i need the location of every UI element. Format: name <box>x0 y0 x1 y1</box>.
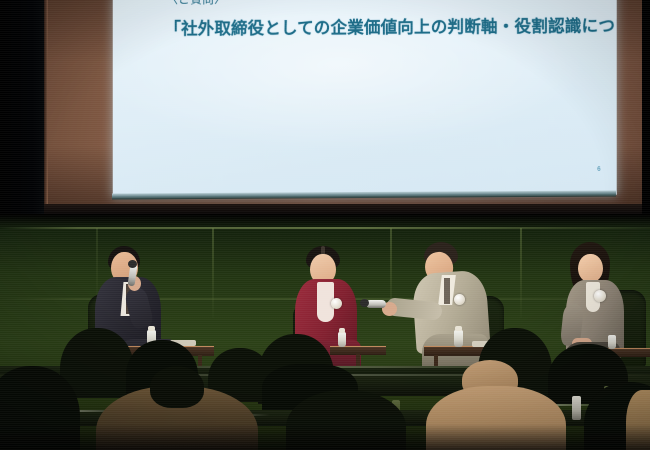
dark-wall-left <box>0 0 46 222</box>
foreground-shadow-band <box>0 424 650 450</box>
slide-title: 「社外取締役としての企業価値向上の判断軸・役割認識について」 <box>164 12 616 39</box>
water-bottle-3-cap <box>455 326 462 331</box>
panelist-2-badge <box>331 298 342 309</box>
panelist-4-head <box>578 254 603 282</box>
panelist-1-microphone-head <box>128 260 137 268</box>
conference-photograph: 〈ご質問〉 「社外取締役としての企業価値向上の判断軸・役割認識について」 6 <box>0 0 650 450</box>
projected-slide: 〈ご質問〉 「社外取締役としての企業価値向上の判断軸・役割認識について」 6 <box>113 0 617 197</box>
dark-wall-right <box>642 0 650 222</box>
panelist-3-badge <box>454 294 465 305</box>
panelist-3-necktie <box>444 278 450 304</box>
stage-and-audience <box>0 214 650 450</box>
water-bottle-4 <box>608 335 616 349</box>
panelist-4-badge <box>594 290 606 302</box>
panelist-3-microphone <box>366 300 386 308</box>
water-bottle-2 <box>338 332 346 347</box>
panelist-3-microphone-head <box>360 299 369 307</box>
water-bottle-2-cap <box>339 328 345 333</box>
slide-page-number: 6 <box>597 167 600 173</box>
audience-front-left-head <box>150 366 204 408</box>
water-bottle-1-cap <box>148 326 155 331</box>
wall-seam-vertical-1 <box>212 228 214 318</box>
slide-subheading: 〈ご質問〉 <box>166 0 226 7</box>
projection-screen-area: 〈ご質問〉 「社外取締役としての企業価値向上の判断軸・役割認識について」 6 <box>0 0 650 222</box>
wall-seam-horizontal-upper <box>0 227 650 229</box>
audience-bottle-2 <box>572 396 581 420</box>
water-bottle-3 <box>454 330 463 347</box>
screen-frame-left-edge <box>44 0 48 208</box>
wall-seam-vertical-3 <box>520 228 522 318</box>
